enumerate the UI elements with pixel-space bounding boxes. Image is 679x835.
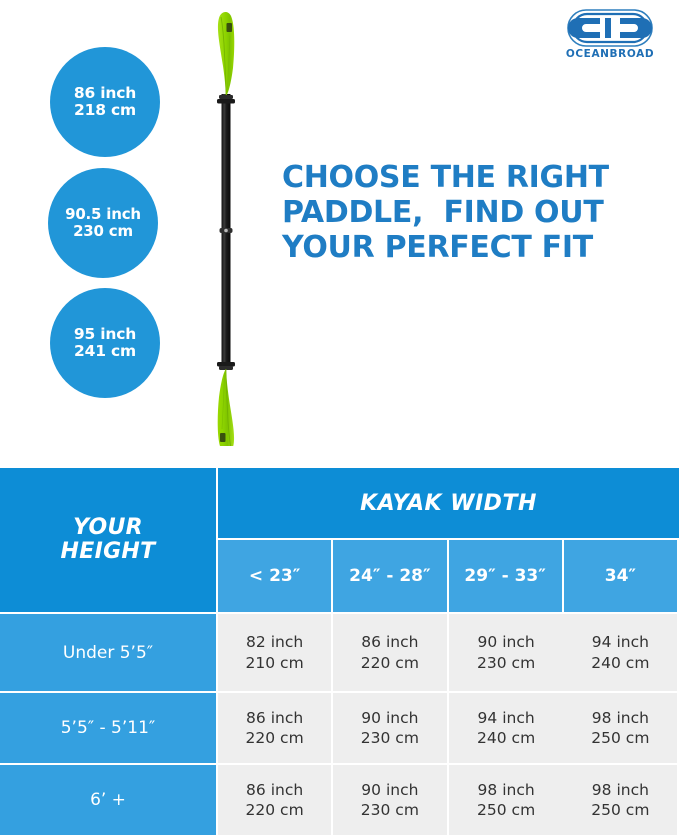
cell-inch-value: 98 inch — [478, 780, 535, 800]
your-height-label-line-1: YOUR — [73, 516, 143, 540]
cell-inch-value: 82 inch — [246, 632, 303, 652]
cell-inch-value: 98 inch — [592, 780, 649, 800]
headline-line-1: CHOOSE THE RIGHT — [282, 160, 672, 195]
table-cell-1-1: 90 inch 230 cm — [333, 691, 448, 763]
headline-line-3: YOUR PERFECT FIT — [282, 230, 672, 265]
paddle-blade-bottom — [218, 369, 234, 446]
headline-line-2: PADDLE, FIND OUT — [282, 195, 672, 230]
table-cell-0-1: 86 inch 220 cm — [333, 612, 448, 691]
table-cell-1-0: 86 inch 220 cm — [218, 691, 333, 763]
table-cell-2-0: 86 inch 220 cm — [218, 763, 333, 835]
table-subheader-width-1: 24″ - 28″ — [333, 540, 448, 612]
paddle-length-bubble-1: 86 inch 218 cm — [50, 47, 160, 157]
table-cell-0-3: 94 inch 240 cm — [564, 612, 679, 691]
table-cell-2-1: 90 inch 230 cm — [333, 763, 448, 835]
cell-inch-value: 86 inch — [246, 708, 303, 728]
paddle-ferrule-top — [217, 95, 235, 104]
cell-inch-value: 90 inch — [478, 632, 535, 652]
cell-cm-value: 250 cm — [591, 728, 649, 748]
blade-logo-badge — [227, 23, 233, 32]
bubble-inch-value: 86 inch — [74, 85, 136, 102]
table-row-label-2: 6’ + — [0, 763, 218, 835]
table-cell-2-3: 98 inch 250 cm — [564, 763, 679, 835]
cell-cm-value: 230 cm — [361, 728, 419, 748]
table-header-kayak-width: KAYAK WIDTH — [218, 468, 679, 540]
table-row-label-1: 5’5″ - 5’11″ — [0, 691, 218, 763]
cell-inch-value: 98 inch — [592, 708, 649, 728]
paddle-size-chart-table: YOUR HEIGHT KAYAK WIDTH < 23″ 24″ - 28″ … — [0, 468, 679, 835]
kayak-paddle-icon — [186, 6, 266, 446]
table-row-label-0: Under 5’5″ — [0, 612, 218, 691]
cell-inch-value: 86 inch — [361, 632, 418, 652]
cell-inch-value: 90 inch — [361, 708, 418, 728]
bubble-cm-value: 241 cm — [74, 343, 136, 360]
paddle-length-bubble-3: 95 inch 241 cm — [50, 288, 160, 398]
cell-cm-value: 240 cm — [591, 653, 649, 673]
paddle-length-bubble-2: 90.5 inch 230 cm — [48, 168, 158, 278]
bubble-cm-value: 230 cm — [73, 223, 133, 240]
cell-cm-value: 220 cm — [361, 653, 419, 673]
cell-inch-value: 94 inch — [478, 708, 535, 728]
your-height-label-line-2: HEIGHT — [61, 540, 156, 564]
bubble-inch-value: 95 inch — [74, 326, 136, 343]
bubble-cm-value: 218 cm — [74, 102, 136, 119]
brand-wordmark: OCEANBROAD — [558, 48, 662, 60]
cell-cm-value: 250 cm — [591, 800, 649, 820]
page-headline: CHOOSE THE RIGHT PADDLE, FIND OUT YOUR P… — [282, 160, 672, 265]
cell-cm-value: 230 cm — [361, 800, 419, 820]
cell-cm-value: 230 cm — [477, 653, 535, 673]
cell-cm-value: 240 cm — [477, 728, 535, 748]
cell-cm-value: 210 cm — [246, 653, 304, 673]
table-subheader-width-0: < 23″ — [218, 540, 333, 612]
cell-cm-value: 220 cm — [246, 800, 304, 820]
cell-inch-value: 86 inch — [246, 780, 303, 800]
table-subheader-width-3: 34″ — [564, 540, 679, 612]
paddle-ferrule-bottom — [217, 362, 235, 370]
blade-logo-badge — [220, 433, 226, 442]
oceanbroad-logo-icon — [558, 8, 662, 48]
bubble-inch-value: 90.5 inch — [65, 206, 141, 223]
table-header-your-height: YOUR HEIGHT — [0, 468, 218, 612]
table-cell-0-0: 82 inch 210 cm — [218, 612, 333, 691]
table-cell-0-2: 90 inch 230 cm — [449, 612, 564, 691]
cell-cm-value: 250 cm — [477, 800, 535, 820]
table-subheader-width-2: 29″ - 33″ — [449, 540, 564, 612]
brand-logo: OCEANBROAD — [558, 8, 662, 64]
cell-inch-value: 90 inch — [361, 780, 418, 800]
cell-cm-value: 220 cm — [246, 728, 304, 748]
table-cell-1-3: 98 inch 250 cm — [564, 691, 679, 763]
cell-inch-value: 94 inch — [592, 632, 649, 652]
paddle-blade-top — [218, 12, 234, 96]
table-cell-2-2: 98 inch 250 cm — [449, 763, 564, 835]
table-cell-1-2: 94 inch 240 cm — [449, 691, 564, 763]
paddle-ferrule-button — [220, 228, 233, 233]
